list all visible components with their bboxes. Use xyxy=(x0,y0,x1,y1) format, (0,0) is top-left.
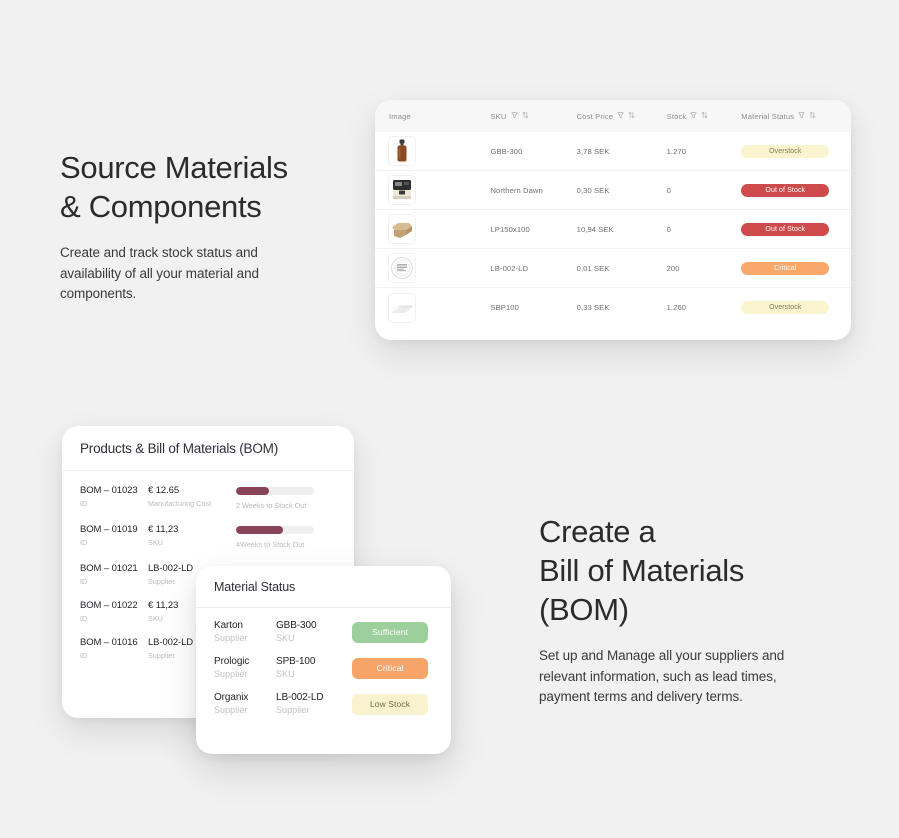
row-sku: GBB-300 xyxy=(490,147,576,156)
material-sku-label: Supplier xyxy=(276,705,352,715)
material-status-list-item[interactable]: KartonSupplierGBB-300SKUSufficient xyxy=(196,608,451,644)
row-image-cell xyxy=(389,254,490,282)
bom-mid-col: € 12.65Manufacturing Cost xyxy=(148,485,236,508)
material-status-col: Sufficient xyxy=(352,620,430,644)
column-header-label: Stock xyxy=(667,112,687,121)
material-name-label: Supplier xyxy=(214,705,276,715)
material-status-body: KartonSupplierGBB-300SKUSufficientProlog… xyxy=(196,608,451,716)
status-badge: Out of Stock xyxy=(741,223,829,236)
table-row[interactable]: Northern Dawn0,30 SEK0Out of Stock xyxy=(375,171,851,210)
materials-table-header: ImageSKUCost PriceStockMaterial Status xyxy=(375,100,851,132)
bom-id-col: BOM – 01021ID xyxy=(80,563,148,586)
status-badge: Sufficient xyxy=(352,622,428,643)
table-row[interactable]: SBP1000,33 SEK1.260Overstock xyxy=(375,288,851,327)
bom-id-value: BOM – 01023 xyxy=(80,485,148,496)
bom-list-item[interactable]: BOM – 01023ID€ 12.65Manufacturing Cost2 … xyxy=(62,471,354,510)
row-stock: 1.260 xyxy=(667,303,742,312)
column-header-label: Image xyxy=(389,112,411,121)
row-cost-price: 0,30 SEK xyxy=(577,186,667,195)
row-cost-price: 0,33 SEK xyxy=(577,303,667,312)
stock-out-progress-bar xyxy=(236,487,314,495)
bom-progress-col: 4Weeks to Stock Out xyxy=(236,524,332,549)
filter-icon[interactable] xyxy=(798,112,805,121)
status-badge: Low Stock xyxy=(352,694,428,715)
bom-id-label: ID xyxy=(80,651,148,660)
row-image-cell xyxy=(389,215,490,243)
material-sku-value: GBB-300 xyxy=(276,620,352,631)
table-row[interactable]: LB-002-LD0,01 SEK200Critical xyxy=(375,249,851,288)
cardboard-box-icon xyxy=(389,215,415,243)
column-header-stock[interactable]: Stock xyxy=(667,111,742,121)
bom-id-value: BOM – 01021 xyxy=(80,563,148,574)
row-stock: 200 xyxy=(667,264,742,273)
row-cost-price: 3,78 SEK xyxy=(577,147,667,156)
bom-copy: Create a Bill of Materials (BOM) Set up … xyxy=(539,512,859,708)
material-sku-col: GBB-300SKU xyxy=(276,620,352,643)
bom-id-col: BOM – 01022ID xyxy=(80,600,148,623)
row-status-cell: Out of Stock xyxy=(741,184,837,197)
status-badge: Out of Stock xyxy=(741,184,829,197)
coffee-machine-icon xyxy=(389,176,415,204)
stock-out-progress-bar xyxy=(236,526,314,534)
row-stock: 1.270 xyxy=(667,147,742,156)
bom-mid-label: Manufacturing Cost xyxy=(148,499,236,508)
material-name-value: Karton xyxy=(214,620,276,631)
bom-id-value: BOM – 01022 xyxy=(80,600,148,611)
bom-title: Create a Bill of Materials (BOM) xyxy=(539,512,859,629)
bom-id-label: ID xyxy=(80,614,148,623)
column-header-label: Material Status xyxy=(741,112,794,121)
round-label-icon xyxy=(389,254,415,282)
row-image-cell xyxy=(389,137,490,165)
status-badge: Critical xyxy=(352,658,428,679)
row-image-cell xyxy=(389,294,490,322)
filter-icon[interactable] xyxy=(690,112,697,121)
column-header-label: SKU xyxy=(490,112,506,121)
row-cost-price: 0,01 SEK xyxy=(577,264,667,273)
material-status-col: Low Stock xyxy=(352,692,430,716)
bom-id-col: BOM – 01023ID xyxy=(80,485,148,508)
source-materials-subtitle: Create and track stock status and availa… xyxy=(60,243,360,305)
material-name-label: Supplier xyxy=(214,669,276,679)
material-name-col: OrganixSupplier xyxy=(214,692,276,715)
material-sku-value: SPB-100 xyxy=(276,656,352,667)
row-image-cell xyxy=(389,176,490,204)
bom-mid-value: € 11,23 xyxy=(148,524,236,535)
material-sku-label: SKU xyxy=(276,633,352,643)
bom-mid-col: € 11,23SKU xyxy=(148,524,236,547)
material-status-card: Material Status KartonSupplierGBB-300SKU… xyxy=(196,566,451,754)
bom-id-label: ID xyxy=(80,538,148,547)
row-status-cell: Overstock xyxy=(741,145,837,158)
bom-card-title: Products & Bill of Materials (BOM) xyxy=(62,426,354,471)
bottle-amber-icon xyxy=(389,137,415,165)
column-header-sku[interactable]: SKU xyxy=(490,111,576,121)
material-sku-label: SKU xyxy=(276,669,352,679)
materials-table-body: GBB-3003,78 SEK1.270OverstockNorthern Da… xyxy=(375,132,851,327)
column-header-image[interactable]: Image xyxy=(389,112,490,121)
row-sku: SBP100 xyxy=(490,303,576,312)
source-materials-copy: Source Materials & Components Create and… xyxy=(60,148,360,305)
bom-progress-label: 4Weeks to Stock Out xyxy=(236,540,332,549)
material-sku-col: SPB-100SKU xyxy=(276,656,352,679)
source-materials-title: Source Materials & Components xyxy=(60,148,360,226)
bom-progress-label: 2 Weeks to Stock Out xyxy=(236,501,332,510)
bom-subtitle: Set up and Manage all your suppliers and… xyxy=(539,646,859,708)
bom-id-col: BOM – 01019ID xyxy=(80,524,148,547)
row-cost-price: 10,94 SEK xyxy=(577,225,667,234)
sort-icon[interactable] xyxy=(701,111,708,121)
column-header-label: Cost Price xyxy=(577,112,614,121)
sort-icon[interactable] xyxy=(809,111,816,121)
materials-table-card: ImageSKUCost PriceStockMaterial Status G… xyxy=(375,100,851,340)
material-sku-col: LB-002-LDSupplier xyxy=(276,692,352,715)
row-sku: LB-002-LD xyxy=(490,264,576,273)
sort-icon[interactable] xyxy=(628,111,635,121)
bom-id-label: ID xyxy=(80,577,148,586)
material-name-label: Supplier xyxy=(214,633,276,643)
material-status-list-item[interactable]: PrologicSupplierSPB-100SKUCritical xyxy=(196,644,451,680)
bom-progress-col: 2 Weeks to Stock Out xyxy=(236,485,332,510)
bom-mid-value: € 12.65 xyxy=(148,485,236,496)
white-pouch-icon xyxy=(389,294,415,322)
status-badge: Overstock xyxy=(741,145,829,158)
bom-id-label: ID xyxy=(80,499,148,508)
bom-id-value: BOM – 01016 xyxy=(80,637,148,648)
filter-icon[interactable] xyxy=(617,112,624,121)
bom-list-item[interactable]: BOM – 01019ID€ 11,23SKU4Weeks to Stock O… xyxy=(62,510,354,549)
row-sku: Northern Dawn xyxy=(490,186,576,195)
column-header-cost-price[interactable]: Cost Price xyxy=(577,111,667,121)
material-name-value: Prologic xyxy=(214,656,276,667)
filter-icon[interactable] xyxy=(511,112,518,121)
table-row[interactable]: LP150x10010,94 SEK0Out of Stock xyxy=(375,210,851,249)
row-stock: 0 xyxy=(667,225,742,234)
material-name-col: KartonSupplier xyxy=(214,620,276,643)
material-sku-value: LB-002-LD xyxy=(276,692,352,703)
material-status-list-item[interactable]: OrganixSupplierLB-002-LDSupplierLow Stoc… xyxy=(196,680,451,716)
row-status-cell: Overstock xyxy=(741,301,837,314)
status-badge: Overstock xyxy=(741,301,829,314)
column-header-material-status[interactable]: Material Status xyxy=(741,111,837,121)
material-name-col: PrologicSupplier xyxy=(214,656,276,679)
bom-id-value: BOM – 01019 xyxy=(80,524,148,535)
status-badge: Critical xyxy=(741,262,829,275)
material-name-value: Organix xyxy=(214,692,276,703)
bom-id-col: BOM – 01016ID xyxy=(80,637,148,660)
bom-mid-label: SKU xyxy=(148,538,236,547)
table-row[interactable]: GBB-3003,78 SEK1.270Overstock xyxy=(375,132,851,171)
row-stock: 0 xyxy=(667,186,742,195)
row-status-cell: Out of Stock xyxy=(741,223,837,236)
row-status-cell: Critical xyxy=(741,262,837,275)
material-status-title: Material Status xyxy=(196,566,451,608)
row-sku: LP150x100 xyxy=(490,225,576,234)
sort-icon[interactable] xyxy=(522,111,529,121)
material-status-col: Critical xyxy=(352,656,430,680)
